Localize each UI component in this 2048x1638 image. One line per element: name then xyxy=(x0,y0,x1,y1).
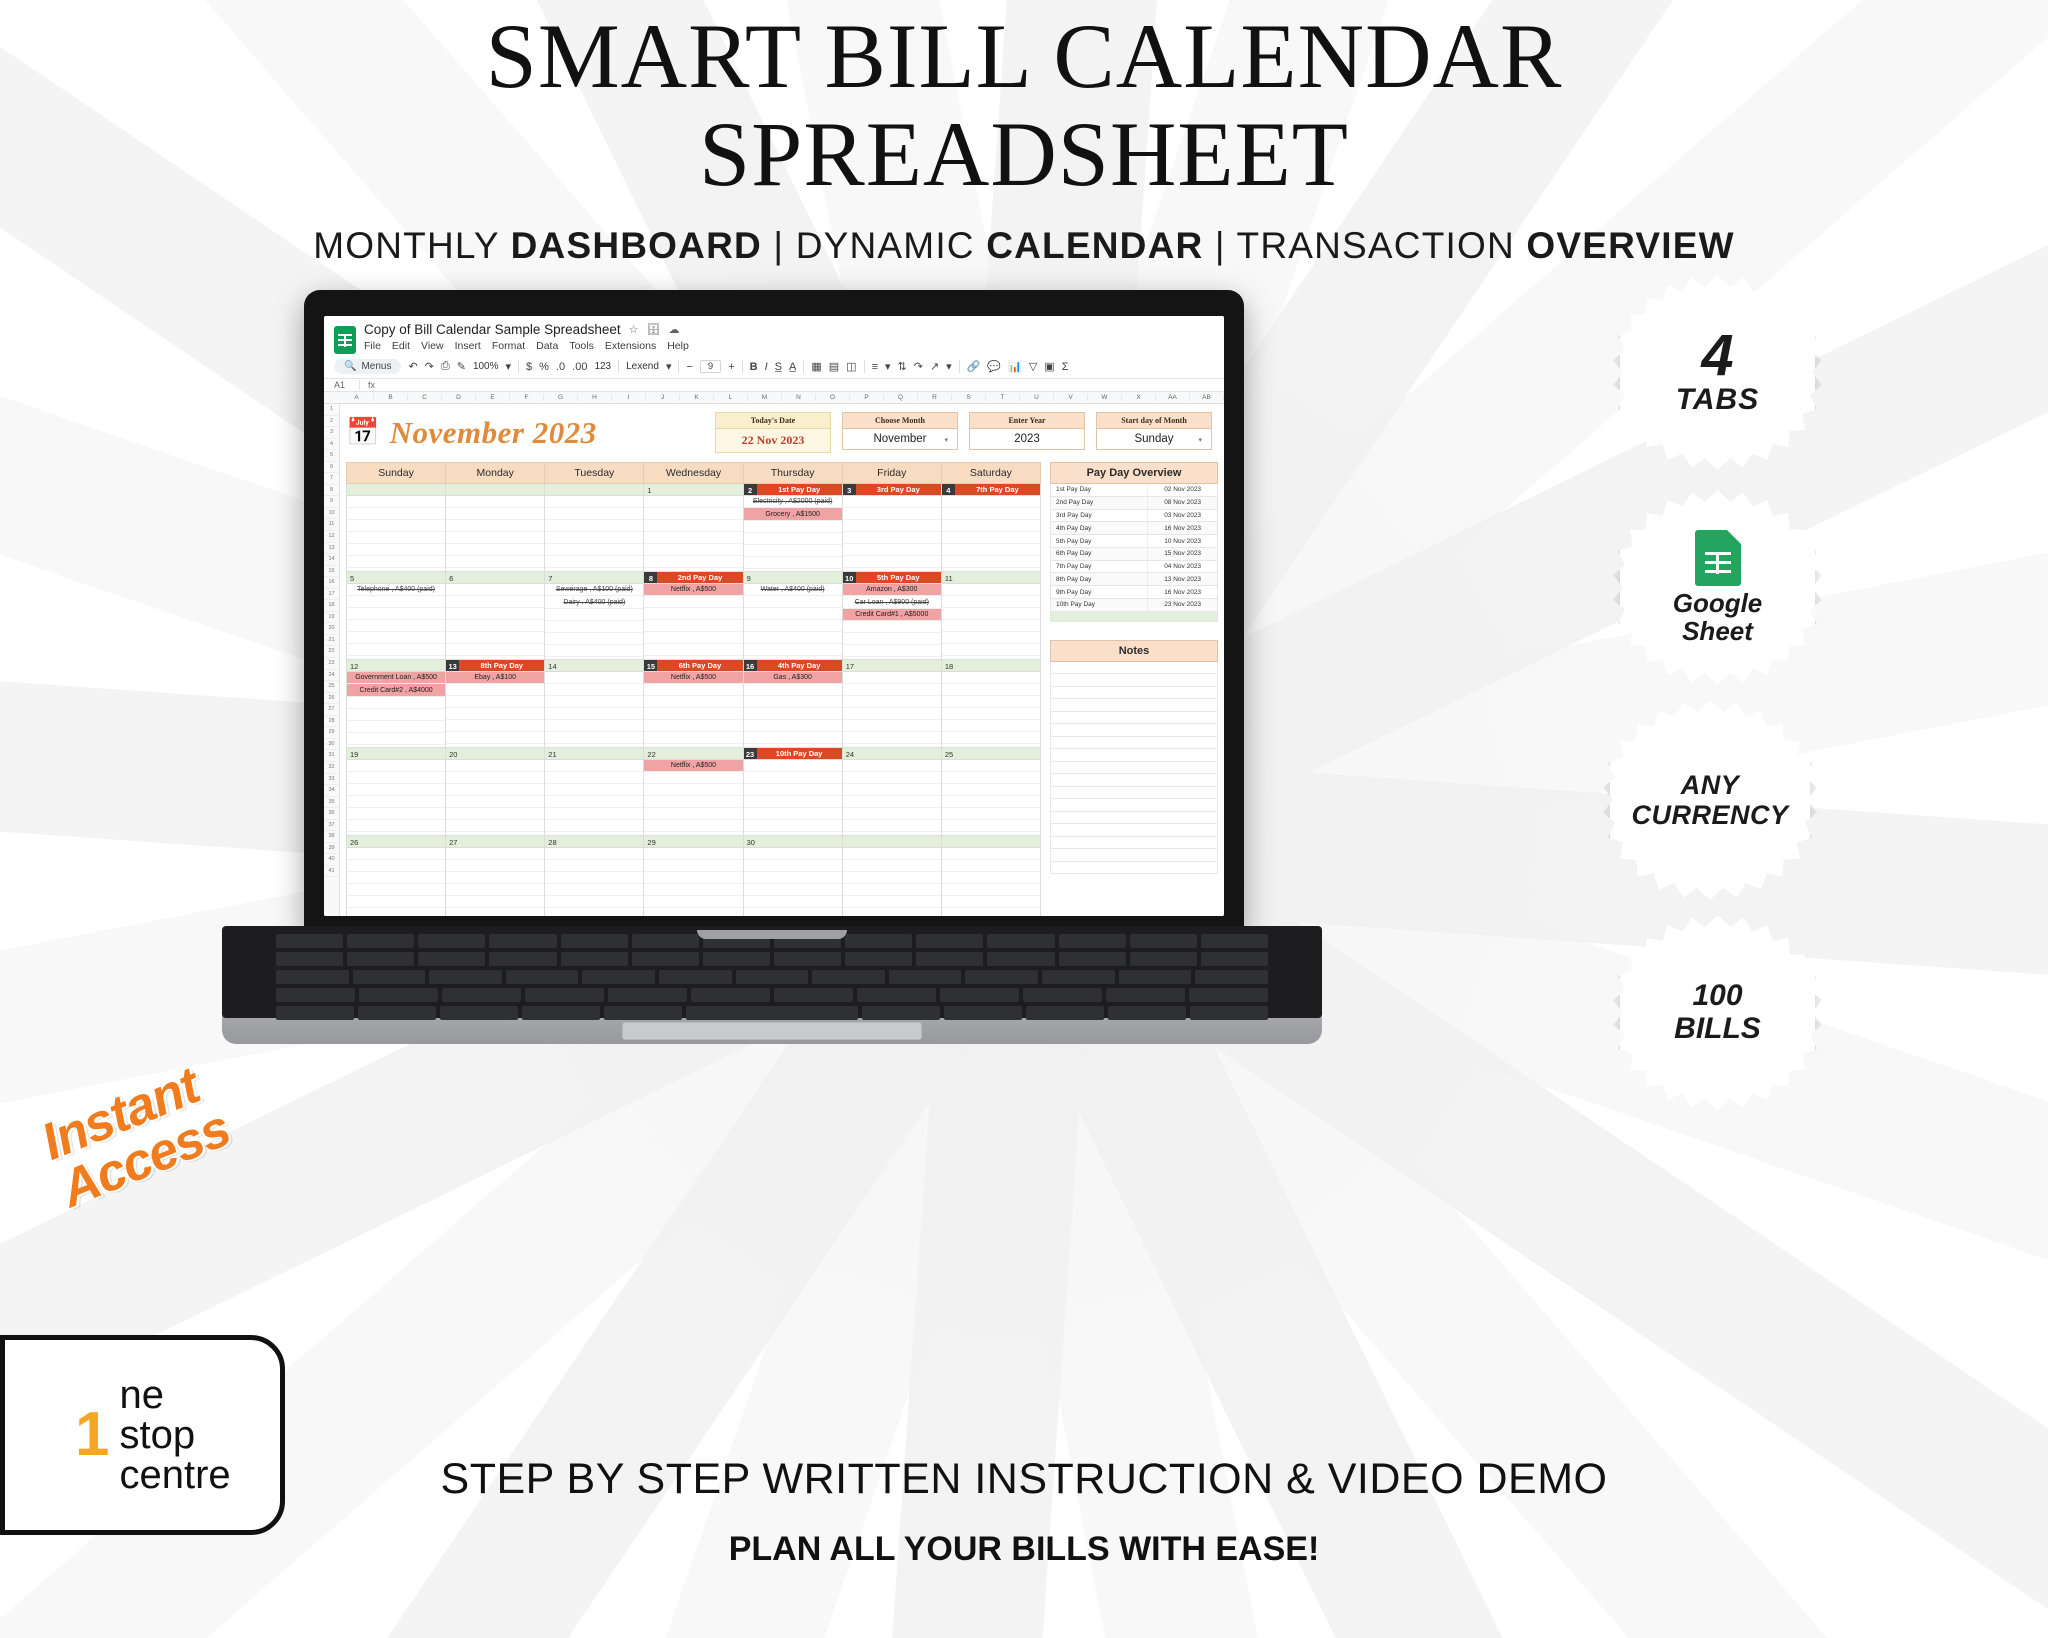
calendar-day-cell[interactable]: 17 xyxy=(843,660,942,748)
calendar-day-cell[interactable]: 164th Pay DayGas , A$300 xyxy=(744,660,843,748)
empty-cell[interactable] xyxy=(843,808,941,820)
empty-cell[interactable] xyxy=(644,896,742,908)
empty-cell[interactable] xyxy=(644,684,742,696)
empty-cell[interactable] xyxy=(744,872,842,884)
row-header-20[interactable]: 20 xyxy=(324,623,339,635)
empty-cell[interactable] xyxy=(744,796,842,808)
calendar-day-cell[interactable]: 25 xyxy=(942,748,1041,836)
calendar-day-cell[interactable]: 20 xyxy=(446,748,545,836)
empty-cell[interactable] xyxy=(446,808,544,820)
empty-cell[interactable] xyxy=(644,720,742,732)
empty-cell[interactable] xyxy=(942,784,1040,796)
column-header-A[interactable]: A xyxy=(340,394,374,401)
empty-cell[interactable] xyxy=(843,820,941,832)
empty-cell[interactable] xyxy=(446,732,544,744)
empty-cell[interactable] xyxy=(942,496,1040,508)
empty-cell[interactable] xyxy=(446,696,544,708)
empty-cell[interactable] xyxy=(942,884,1040,896)
row-header-30[interactable]: 30 xyxy=(324,739,339,751)
calendar-day-cell[interactable]: 2310th Pay Day xyxy=(744,748,843,836)
chevron-down-icon[interactable]: ▾ xyxy=(1198,436,1202,444)
empty-cell[interactable] xyxy=(843,908,941,916)
empty-cell[interactable] xyxy=(347,808,445,820)
empty-cell[interactable] xyxy=(942,796,1040,808)
empty-cell[interactable] xyxy=(942,732,1040,744)
empty-cell[interactable] xyxy=(744,908,842,916)
calendar-day-cell[interactable] xyxy=(843,836,942,916)
empty-cell[interactable] xyxy=(744,632,842,644)
undo-icon[interactable]: ↶ xyxy=(408,360,417,373)
menu-item-extensions[interactable]: Extensions xyxy=(605,340,656,352)
empty-cell[interactable] xyxy=(644,820,742,832)
empty-cell[interactable] xyxy=(744,848,842,860)
empty-cell[interactable] xyxy=(545,896,643,908)
calendar-day-cell[interactable]: 27 xyxy=(446,836,545,916)
empty-cell[interactable] xyxy=(347,884,445,896)
empty-cell[interactable] xyxy=(744,620,842,632)
empty-cell[interactable] xyxy=(942,644,1040,656)
empty-cell[interactable] xyxy=(545,720,643,732)
empty-cell[interactable] xyxy=(644,556,742,568)
empty-cell[interactable] xyxy=(843,684,941,696)
decrease-font-size-button[interactable]: − xyxy=(686,361,692,373)
column-header-N[interactable]: N xyxy=(782,394,816,401)
empty-cell[interactable] xyxy=(446,596,544,608)
bill-entry[interactable]: Water , A$400 (paid) xyxy=(744,584,842,596)
empty-cell[interactable] xyxy=(644,808,742,820)
zoom-chevron-down-icon[interactable]: ▾ xyxy=(506,360,512,373)
calendar-day-cell[interactable]: 18 xyxy=(942,660,1041,748)
bill-entry[interactable]: Dairy , A$400 (paid) xyxy=(545,596,643,608)
empty-cell[interactable] xyxy=(446,508,544,520)
empty-cell[interactable] xyxy=(843,772,941,784)
calendar-day-cell[interactable] xyxy=(942,836,1041,916)
empty-cell[interactable] xyxy=(545,520,643,532)
column-header-C[interactable]: C xyxy=(408,394,442,401)
empty-cell[interactable] xyxy=(843,860,941,872)
empty-cell[interactable] xyxy=(347,908,445,916)
row-header-39[interactable]: 39 xyxy=(324,843,339,855)
note-line[interactable] xyxy=(1050,862,1218,875)
column-header-X[interactable]: X xyxy=(1122,394,1156,401)
redo-icon[interactable]: ↷ xyxy=(425,360,434,373)
empty-cell[interactable] xyxy=(644,908,742,916)
calendar-day-cell[interactable]: 29 xyxy=(644,836,743,916)
empty-cell[interactable] xyxy=(347,697,445,709)
strikethrough-icon[interactable]: S̲ xyxy=(775,361,782,373)
bill-entry[interactable]: Ebay , A$100 xyxy=(446,672,544,684)
empty-cell[interactable] xyxy=(446,584,544,596)
calendar-day-cell[interactable]: 22Netflix , A$500 xyxy=(644,748,743,836)
empty-cell[interactable] xyxy=(347,733,445,745)
empty-cell[interactable] xyxy=(446,896,544,908)
empty-cell[interactable] xyxy=(843,784,941,796)
empty-cell[interactable] xyxy=(446,644,544,656)
empty-cell[interactable] xyxy=(942,508,1040,520)
empty-cell[interactable] xyxy=(843,872,941,884)
row-header-17[interactable]: 17 xyxy=(324,589,339,601)
empty-cell[interactable] xyxy=(347,644,445,656)
empty-cell[interactable] xyxy=(644,496,742,508)
empty-cell[interactable] xyxy=(644,860,742,872)
note-line[interactable] xyxy=(1050,687,1218,700)
empty-cell[interactable] xyxy=(347,709,445,721)
empty-cell[interactable] xyxy=(347,784,445,796)
empty-cell[interactable] xyxy=(644,784,742,796)
empty-cell[interactable] xyxy=(744,884,842,896)
row-header-28[interactable]: 28 xyxy=(324,716,339,728)
empty-cell[interactable] xyxy=(446,684,544,696)
empty-cell[interactable] xyxy=(446,632,544,644)
empty-cell[interactable] xyxy=(843,633,941,645)
empty-cell[interactable] xyxy=(347,760,445,772)
menu-item-insert[interactable]: Insert xyxy=(455,340,481,352)
empty-cell[interactable] xyxy=(843,672,941,684)
empty-cell[interactable] xyxy=(446,872,544,884)
empty-cell[interactable] xyxy=(843,544,941,556)
add-comment-icon[interactable]: 💬 xyxy=(987,360,1001,373)
bill-entry[interactable]: Grocery , A$1500 xyxy=(744,508,842,520)
row-header-31[interactable]: 31 xyxy=(324,750,339,762)
bold-icon[interactable]: B xyxy=(750,361,758,373)
empty-cell[interactable] xyxy=(545,732,643,744)
empty-cell[interactable] xyxy=(347,772,445,784)
empty-cell[interactable] xyxy=(843,760,941,772)
row-header-34[interactable]: 34 xyxy=(324,785,339,797)
empty-cell[interactable] xyxy=(942,820,1040,832)
row-header-32[interactable]: 32 xyxy=(324,762,339,774)
empty-cell[interactable] xyxy=(843,896,941,908)
empty-cell[interactable] xyxy=(545,684,643,696)
calendar-day-cell[interactable]: 5Telephone , A$400 (paid) xyxy=(347,572,446,660)
merge-cells-icon[interactable]: ◫ xyxy=(846,360,856,373)
empty-cell[interactable] xyxy=(446,760,544,772)
empty-cell[interactable] xyxy=(644,884,742,896)
column-header-F[interactable]: F xyxy=(510,394,544,401)
empty-cell[interactable] xyxy=(843,621,941,633)
star-icon[interactable]: ☆ xyxy=(629,323,639,336)
row-header-38[interactable]: 38 xyxy=(324,831,339,843)
row-header-36[interactable]: 36 xyxy=(324,808,339,820)
horizontal-align-icon[interactable]: ≡ xyxy=(872,361,878,373)
calendar-day-cell[interactable]: 21 xyxy=(545,748,644,836)
empty-cell[interactable] xyxy=(545,772,643,784)
cell-reference-input[interactable]: A1 xyxy=(334,380,360,390)
row-header-8[interactable]: 8 xyxy=(324,485,339,497)
bill-entry[interactable]: Sewerage , A$100 (paid) xyxy=(545,584,643,596)
row-header-15[interactable]: 15 xyxy=(324,566,339,578)
print-icon[interactable]: ⎙ xyxy=(441,360,450,373)
menu-item-format[interactable]: Format xyxy=(492,340,525,352)
calendar-day-cell[interactable]: 19 xyxy=(347,748,446,836)
empty-cell[interactable] xyxy=(347,520,445,532)
row-header-22[interactable]: 22 xyxy=(324,646,339,658)
column-header-J[interactable]: J xyxy=(646,394,680,401)
note-line[interactable] xyxy=(1050,699,1218,712)
note-line[interactable] xyxy=(1050,762,1218,775)
note-line[interactable] xyxy=(1050,737,1218,750)
empty-cell[interactable] xyxy=(545,621,643,633)
empty-cell[interactable] xyxy=(644,772,742,784)
empty-cell[interactable] xyxy=(347,796,445,808)
text-rotation-icon[interactable]: ↗ xyxy=(930,360,939,373)
note-line[interactable] xyxy=(1050,712,1218,725)
empty-cell[interactable] xyxy=(644,732,742,744)
bill-entry[interactable]: Netflix , A$500 xyxy=(644,584,742,596)
empty-cell[interactable] xyxy=(942,848,1040,860)
empty-cell[interactable] xyxy=(545,796,643,808)
empty-cell[interactable] xyxy=(545,808,643,820)
calendar-day-cell[interactable]: 7Sewerage , A$100 (paid)Dairy , A$400 (p… xyxy=(545,572,644,660)
column-header-H[interactable]: H xyxy=(578,394,612,401)
empty-cell[interactable] xyxy=(942,532,1040,544)
empty-cell[interactable] xyxy=(446,608,544,620)
calendar-day-cell[interactable]: 9Water , A$400 (paid) xyxy=(744,572,843,660)
empty-cell[interactable] xyxy=(446,496,544,508)
empty-cell[interactable] xyxy=(545,633,643,645)
empty-cell[interactable] xyxy=(347,848,445,860)
row-header-41[interactable]: 41 xyxy=(324,866,339,878)
align-chevron-icon[interactable]: ▾ xyxy=(885,360,891,373)
empty-cell[interactable] xyxy=(744,772,842,784)
column-header-W[interactable]: W xyxy=(1088,394,1122,401)
empty-cell[interactable] xyxy=(744,760,842,772)
row-header-9[interactable]: 9 xyxy=(324,496,339,508)
menu-item-edit[interactable]: Edit xyxy=(392,340,410,352)
percent-icon[interactable]: % xyxy=(539,361,549,373)
empty-cell[interactable] xyxy=(545,496,643,508)
bill-entry[interactable]: Car Loan , A$900 (paid) xyxy=(843,596,941,608)
note-line[interactable] xyxy=(1050,849,1218,862)
bill-entry[interactable]: Netflix , A$500 xyxy=(644,760,742,772)
empty-cell[interactable] xyxy=(347,721,445,733)
empty-cell[interactable] xyxy=(744,860,842,872)
empty-cell[interactable] xyxy=(446,556,544,568)
empty-cell[interactable] xyxy=(744,533,842,545)
empty-cell[interactable] xyxy=(644,872,742,884)
column-header-L[interactable]: L xyxy=(714,394,748,401)
number-format-icon[interactable]: 123 xyxy=(594,361,611,372)
empty-cell[interactable] xyxy=(644,508,742,520)
calendar-day-cell[interactable]: 156th Pay DayNetflix , A$500 xyxy=(644,660,743,748)
calendar-day-cell[interactable]: 24 xyxy=(843,748,942,836)
functions-icon[interactable]: ▣ xyxy=(1044,360,1054,373)
empty-cell[interactable] xyxy=(347,596,445,608)
row-header-18[interactable]: 18 xyxy=(324,600,339,612)
empty-cell[interactable] xyxy=(545,784,643,796)
borders-icon[interactable]: ▤ xyxy=(829,360,839,373)
calendar-day-cell[interactable] xyxy=(347,484,446,572)
empty-cell[interactable] xyxy=(545,884,643,896)
menu-item-view[interactable]: View xyxy=(421,340,444,352)
empty-cell[interactable] xyxy=(942,620,1040,632)
empty-cell[interactable] xyxy=(347,872,445,884)
empty-cell[interactable] xyxy=(644,696,742,708)
row-header-33[interactable]: 33 xyxy=(324,774,339,786)
empty-cell[interactable] xyxy=(942,684,1040,696)
empty-cell[interactable] xyxy=(446,520,544,532)
bill-entry[interactable]: Netflix , A$500 xyxy=(644,672,742,684)
empty-cell[interactable] xyxy=(942,544,1040,556)
bill-entry[interactable]: Amazon , A$300 xyxy=(843,584,941,596)
empty-cell[interactable] xyxy=(744,732,842,744)
sigma-icon[interactable]: Σ xyxy=(1062,361,1069,373)
empty-cell[interactable] xyxy=(843,645,941,657)
note-line[interactable] xyxy=(1050,674,1218,687)
insert-chart-icon[interactable]: 📊 xyxy=(1008,360,1022,373)
calendar-day-cell[interactable]: 1 xyxy=(644,484,743,572)
column-header-AA[interactable]: AA xyxy=(1156,394,1190,401)
empty-cell[interactable] xyxy=(744,608,842,620)
empty-cell[interactable] xyxy=(644,544,742,556)
calendar-day-cell[interactable]: 33rd Pay Day xyxy=(843,484,942,572)
empty-cell[interactable] xyxy=(545,508,643,520)
empty-cell[interactable] xyxy=(545,532,643,544)
column-header-Q[interactable]: Q xyxy=(884,394,918,401)
font-chevron-down-icon[interactable]: ▾ xyxy=(666,360,672,373)
empty-cell[interactable] xyxy=(545,820,643,832)
bill-entry[interactable]: Electricity , A$2000 (paid) xyxy=(744,496,842,508)
note-line[interactable] xyxy=(1050,824,1218,837)
empty-cell[interactable] xyxy=(744,820,842,832)
empty-cell[interactable] xyxy=(347,496,445,508)
empty-cell[interactable] xyxy=(843,520,941,532)
empty-cell[interactable] xyxy=(347,508,445,520)
empty-cell[interactable] xyxy=(644,532,742,544)
row-header-2[interactable]: 2 xyxy=(324,416,339,428)
empty-cell[interactable] xyxy=(347,532,445,544)
empty-cell[interactable] xyxy=(744,557,842,569)
column-header-M[interactable]: M xyxy=(748,394,782,401)
empty-cell[interactable] xyxy=(545,696,643,708)
row-header-12[interactable]: 12 xyxy=(324,531,339,543)
empty-cell[interactable] xyxy=(744,896,842,908)
empty-cell[interactable] xyxy=(545,708,643,720)
row-header-4[interactable]: 4 xyxy=(324,439,339,451)
empty-cell[interactable] xyxy=(843,532,941,544)
fill-color-icon[interactable]: ▦ xyxy=(811,360,821,373)
empty-cell[interactable] xyxy=(347,620,445,632)
empty-cell[interactable] xyxy=(942,908,1040,916)
empty-cell[interactable] xyxy=(942,760,1040,772)
row-header-1[interactable]: 1 xyxy=(324,404,339,416)
empty-cell[interactable] xyxy=(347,632,445,644)
column-header-B[interactable]: B xyxy=(374,394,408,401)
empty-cell[interactable] xyxy=(744,545,842,557)
column-header-R[interactable]: R xyxy=(918,394,952,401)
empty-cell[interactable] xyxy=(545,848,643,860)
empty-cell[interactable] xyxy=(942,720,1040,732)
calendar-day-cell[interactable]: 47th Pay Day xyxy=(942,484,1041,572)
note-line[interactable] xyxy=(1050,774,1218,787)
row-header-3[interactable]: 3 xyxy=(324,427,339,439)
enter-year-value[interactable]: 2023 xyxy=(969,429,1085,450)
italic-icon[interactable]: I xyxy=(765,361,768,373)
empty-cell[interactable] xyxy=(744,708,842,720)
empty-cell[interactable] xyxy=(942,632,1040,644)
start-day-of-month-value[interactable]: Sunday▾ xyxy=(1096,429,1212,450)
row-header-6[interactable]: 6 xyxy=(324,462,339,474)
empty-cell[interactable] xyxy=(942,596,1040,608)
empty-cell[interactable] xyxy=(347,860,445,872)
document-title[interactable]: Copy of Bill Calendar Sample Spreadsheet xyxy=(364,322,621,337)
row-header-11[interactable]: 11 xyxy=(324,519,339,531)
empty-cell[interactable] xyxy=(942,860,1040,872)
empty-cell[interactable] xyxy=(843,720,941,732)
calendar-day-cell[interactable]: 12Government Loan , A$500Credit Card#2 ,… xyxy=(347,660,446,748)
calendar-day-cell[interactable] xyxy=(545,484,644,572)
calendar-day-cell[interactable]: 26 xyxy=(347,836,446,916)
row-header-25[interactable]: 25 xyxy=(324,681,339,693)
empty-cell[interactable] xyxy=(446,796,544,808)
empty-cell[interactable] xyxy=(843,508,941,520)
empty-cell[interactable] xyxy=(446,784,544,796)
row-header-26[interactable]: 26 xyxy=(324,693,339,705)
calendar-day-cell[interactable]: 82nd Pay DayNetflix , A$500 xyxy=(644,572,743,660)
empty-cell[interactable] xyxy=(644,608,742,620)
column-header-S[interactable]: S xyxy=(952,394,986,401)
choose-month-value[interactable]: November▾ xyxy=(842,429,958,450)
row-header-40[interactable]: 40 xyxy=(324,854,339,866)
menu-item-file[interactable]: File xyxy=(364,340,381,352)
empty-cell[interactable] xyxy=(347,896,445,908)
empty-cell[interactable] xyxy=(446,532,544,544)
note-line[interactable] xyxy=(1050,724,1218,737)
empty-cell[interactable] xyxy=(446,884,544,896)
empty-cell[interactable] xyxy=(545,609,643,621)
empty-cell[interactable] xyxy=(843,848,941,860)
empty-cell[interactable] xyxy=(644,620,742,632)
empty-cell[interactable] xyxy=(644,644,742,656)
increase-decimal-icon[interactable]: .00 xyxy=(572,361,587,373)
currency-icon[interactable]: $ xyxy=(526,361,532,373)
calendar-day-cell[interactable]: 6 xyxy=(446,572,545,660)
row-header-16[interactable]: 16 xyxy=(324,577,339,589)
note-line[interactable] xyxy=(1050,662,1218,675)
column-header-O[interactable]: O xyxy=(816,394,850,401)
calendar-day-cell[interactable]: 14 xyxy=(545,660,644,748)
empty-cell[interactable] xyxy=(545,645,643,657)
empty-cell[interactable] xyxy=(942,896,1040,908)
empty-cell[interactable] xyxy=(347,556,445,568)
row-header-10[interactable]: 10 xyxy=(324,508,339,520)
row-header-5[interactable]: 5 xyxy=(324,450,339,462)
empty-cell[interactable] xyxy=(942,808,1040,820)
empty-cell[interactable] xyxy=(843,708,941,720)
row-header-23[interactable]: 23 xyxy=(324,658,339,670)
row-header-13[interactable]: 13 xyxy=(324,543,339,555)
menus-search-button[interactable]: 🔍 Menus xyxy=(334,359,401,374)
empty-cell[interactable] xyxy=(446,620,544,632)
rotation-chevron-icon[interactable]: ▾ xyxy=(946,360,952,373)
insert-link-icon[interactable]: 🔗 xyxy=(967,360,981,373)
menu-item-tools[interactable]: Tools xyxy=(569,340,594,352)
empty-cell[interactable] xyxy=(744,644,842,656)
empty-cell[interactable] xyxy=(446,860,544,872)
empty-cell[interactable] xyxy=(644,796,742,808)
empty-cell[interactable] xyxy=(644,520,742,532)
empty-cell[interactable] xyxy=(545,760,643,772)
empty-cell[interactable] xyxy=(942,584,1040,596)
row-header-29[interactable]: 29 xyxy=(324,727,339,739)
bill-entry[interactable]: Government Loan , A$500 xyxy=(347,672,445,684)
row-header-14[interactable]: 14 xyxy=(324,554,339,566)
empty-cell[interactable] xyxy=(545,908,643,916)
row-header-37[interactable]: 37 xyxy=(324,820,339,832)
empty-cell[interactable] xyxy=(545,672,643,684)
note-line[interactable] xyxy=(1050,749,1218,762)
empty-cell[interactable] xyxy=(744,521,842,533)
